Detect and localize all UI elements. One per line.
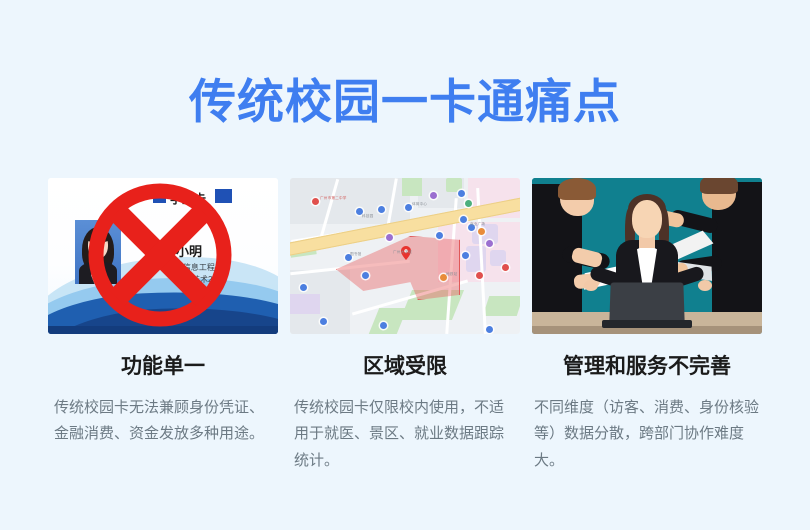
map-poi-marker bbox=[378, 206, 385, 213]
pain-point-card-row: 学生卡 小明 23级信息工程系 软件技术2班 功能单一 传统 bbox=[48, 178, 762, 474]
card-description: 传统校园卡仅限校内使用，不适用于就医、景区、就业数据跟踪统计。 bbox=[294, 395, 516, 474]
right-colleague-hair bbox=[700, 178, 738, 194]
card-media-map: 广州市第二中学 科技园 体育中心 广州大学城 商业广场 图书馆 地铁站 bbox=[290, 178, 520, 334]
card-media-student-card: 学生卡 小明 23级信息工程系 软件技术2班 bbox=[48, 178, 278, 334]
laptop-base bbox=[602, 320, 692, 328]
center-figure-right-hand bbox=[698, 280, 712, 291]
map-poi-marker bbox=[405, 204, 412, 211]
map-label: 广州大学城 bbox=[393, 250, 412, 255]
page-title: 传统校园一卡通痛点 bbox=[0, 78, 810, 125]
card-heading: 管理和服务不完善 bbox=[563, 354, 731, 379]
map-poi-marker bbox=[362, 272, 369, 279]
map-poi-marker bbox=[478, 228, 485, 235]
map-poi-marker bbox=[502, 264, 509, 271]
map-poi-marker bbox=[465, 200, 472, 207]
map-park bbox=[483, 296, 520, 316]
map-label: 体育中心 bbox=[412, 202, 427, 207]
map-label: 科技园 bbox=[362, 214, 373, 219]
map-poi-marker bbox=[436, 232, 443, 239]
map-park bbox=[369, 308, 408, 334]
center-figure-head bbox=[632, 200, 662, 238]
map-label: 地铁站 bbox=[446, 272, 457, 277]
campus-boundary-area bbox=[336, 236, 460, 300]
map-poi-marker bbox=[320, 318, 327, 325]
map-poi-marker bbox=[300, 284, 307, 291]
left-colleague-hair bbox=[558, 178, 596, 200]
office-illustration-graphic bbox=[532, 178, 762, 334]
campus-map-graphic: 广州市第二中学 科技园 体育中心 广州大学城 商业广场 图书馆 地铁站 bbox=[290, 178, 520, 334]
pain-point-card-management: 管理和服务不完善 不同维度（访客、消费、身份核验等）数据分散，跨部门协作难度大。 bbox=[532, 178, 762, 474]
map-park bbox=[402, 178, 422, 196]
map-poi-marker bbox=[486, 326, 493, 333]
map-poi-marker bbox=[312, 198, 319, 205]
card-heading: 区域受限 bbox=[363, 354, 447, 379]
card-heading: 功能单一 bbox=[121, 354, 205, 379]
laptop-screen bbox=[609, 282, 684, 322]
map-poi-marker bbox=[462, 252, 469, 259]
map-poi-marker bbox=[380, 322, 387, 329]
map-poi-marker bbox=[476, 272, 483, 279]
center-figure-left-hand bbox=[584, 280, 598, 291]
pain-point-card-function: 学生卡 小明 23级信息工程系 软件技术2班 功能单一 传统 bbox=[48, 178, 278, 474]
pain-point-card-area: 广州市第二中学 科技园 体育中心 广州大学城 商业广场 图书馆 地铁站 区域受限… bbox=[290, 178, 520, 474]
card-description: 传统校园卡无法兼顾身份凭证、金融消费、资金发放多种用途。 bbox=[54, 395, 272, 448]
map-poi-marker bbox=[458, 190, 465, 197]
red-x-prohibition-icon bbox=[84, 179, 236, 331]
map-building bbox=[466, 246, 486, 272]
map-poi-marker bbox=[430, 192, 437, 199]
map-label: 广州市第二中学 bbox=[320, 196, 347, 201]
map-poi-marker bbox=[486, 240, 493, 247]
map-label: 图书馆 bbox=[350, 252, 361, 257]
map-label: 商业广场 bbox=[470, 222, 485, 227]
card-description: 不同维度（访客、消费、身份核验等）数据分散，跨部门协作难度大。 bbox=[534, 395, 760, 474]
card-media-office bbox=[532, 178, 762, 334]
map-poi-marker bbox=[386, 234, 393, 241]
map-building bbox=[472, 224, 498, 244]
map-poi-marker bbox=[460, 216, 467, 223]
map-building bbox=[290, 294, 320, 314]
